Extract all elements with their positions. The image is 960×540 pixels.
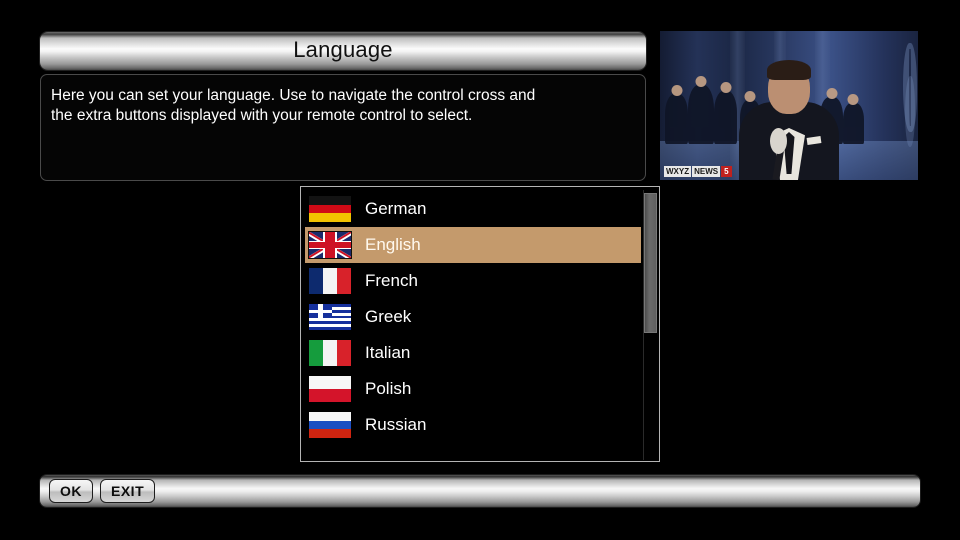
language-list[interactable]: German English	[300, 186, 660, 462]
video-crowd-head	[848, 94, 859, 105]
list-item[interactable]: Polish	[305, 371, 641, 407]
video-crowd-figure	[714, 91, 737, 145]
video-crowd-head	[745, 91, 756, 102]
video-scene: WXYZ NEWS 5	[660, 31, 918, 180]
page-title: Language	[293, 39, 392, 63]
list-item[interactable]: French	[305, 263, 641, 299]
tv-settings-screen: Language Here you can set your language.…	[0, 0, 960, 540]
video-channel-bug: WXYZ NEWS 5	[664, 166, 732, 177]
description-panel: Here you can set your language. Use to n…	[40, 74, 646, 181]
list-item[interactable]: Greek	[305, 299, 641, 335]
flag-france-icon	[309, 268, 351, 294]
exit-button[interactable]: EXIT	[100, 479, 155, 503]
video-sculpture-swirl	[905, 76, 915, 148]
flag-poland-icon	[309, 376, 351, 402]
flag-russia-icon	[309, 412, 351, 438]
video-crowd-head	[696, 76, 707, 87]
language-list-items: German English	[301, 187, 641, 461]
video-microphone-head	[770, 128, 787, 154]
exit-button-label: EXIT	[111, 483, 144, 499]
video-reporter	[739, 102, 839, 180]
list-item-label: English	[365, 236, 421, 255]
list-item-label: Polish	[365, 380, 411, 399]
ok-button[interactable]: OK	[49, 479, 93, 503]
video-crowd-head	[720, 82, 731, 93]
action-bar: OK EXIT	[40, 475, 920, 507]
list-item[interactable]: Italian	[305, 335, 641, 371]
video-channel-bug-callsign: WXYZ	[664, 166, 691, 177]
list-item-label: Italian	[365, 344, 410, 363]
description-line-2: the extra buttons displayed with your re…	[51, 106, 633, 126]
video-reporter-hair	[767, 60, 811, 80]
video-crowd-head	[826, 88, 837, 99]
list-item[interactable]: Russian	[305, 407, 641, 443]
list-item[interactable]: German	[305, 191, 641, 227]
description-line-1: Here you can set your language. Use to n…	[51, 86, 633, 106]
page-title-bar: Language	[40, 32, 646, 70]
ok-button-label: OK	[60, 483, 82, 499]
video-crowd-figure	[665, 94, 688, 145]
list-scrollbar-thumb[interactable]	[644, 193, 657, 333]
flag-germany-icon	[309, 196, 351, 222]
flag-united-kingdom-icon	[309, 232, 351, 258]
video-crowd-figure	[843, 103, 864, 145]
video-crowd-figure	[688, 85, 714, 145]
list-scrollbar-track[interactable]	[643, 190, 656, 460]
list-item[interactable]: English	[305, 227, 641, 263]
video-reporter-pocket-square	[807, 136, 822, 145]
list-item-label: Russian	[365, 416, 426, 435]
list-item-label: French	[365, 272, 418, 291]
flag-greece-icon	[309, 304, 351, 330]
video-crowd-head	[671, 85, 682, 96]
list-item-label: German	[365, 200, 426, 219]
video-channel-bug-news: NEWS	[692, 166, 720, 177]
flag-italy-icon	[309, 340, 351, 366]
list-item-label: Greek	[365, 308, 411, 327]
video-preview[interactable]: WXYZ NEWS 5	[660, 31, 918, 180]
video-channel-bug-number: 5	[721, 166, 731, 177]
